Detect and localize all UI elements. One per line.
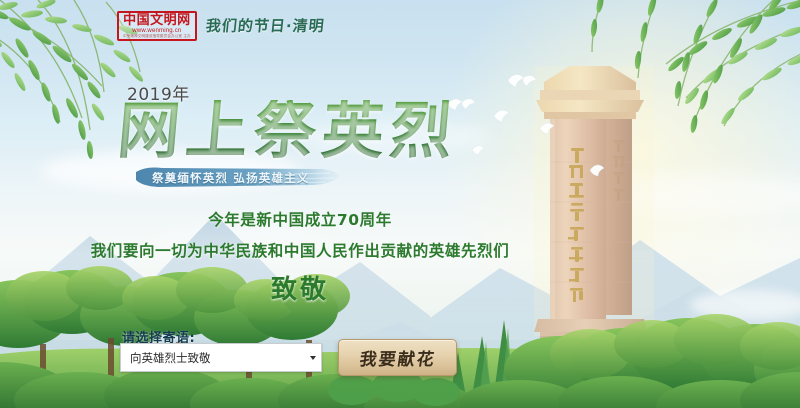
page-title: 网上祭英烈 — [115, 100, 460, 162]
logo-badge: 中国文明网 www.wenming.cn 中央精神文明建设指导委员会办公室 主办 — [117, 11, 197, 41]
site-logo[interactable]: 中国文明网 www.wenming.cn 中央精神文明建设指导委员会办公室 主办… — [117, 11, 324, 41]
message-select[interactable]: 向英雄烈士致敬 — [120, 343, 322, 372]
offer-flower-label: 我要献花 — [358, 345, 438, 370]
hero-copy: 今年是新中国成立70周年 我们要向一切为中华民族和中国人民作出贡献的英雄先烈们 … — [0, 208, 600, 306]
offer-flower-button[interactable]: 我要献花 — [338, 339, 457, 376]
copy-line-3: 致敬 — [0, 269, 600, 306]
poster-stage: 中国文明网 www.wenming.cn 中央精神文明建设指导委员会办公室 主办… — [0, 0, 800, 408]
chevron-down-icon[interactable] — [305, 356, 321, 360]
festival-label: 我们的节日·清明 — [205, 15, 326, 36]
slogan-text: 祭奠缅怀英烈 弘扬英雄主义 — [152, 170, 310, 186]
copy-line-1: 今年是新中国成立70周年 — [0, 208, 600, 230]
message-select-value[interactable]: 向英雄烈士致敬 — [121, 350, 305, 366]
copy-line-2: 我们要向一切为中华民族和中国人民作出贡献的英雄先烈们 — [0, 239, 600, 261]
logo-name: 中国文明网 — [123, 14, 191, 27]
flying-doves — [430, 58, 630, 208]
logo-subline: 中央精神文明建设指导委员会办公室 主办 — [123, 35, 191, 39]
